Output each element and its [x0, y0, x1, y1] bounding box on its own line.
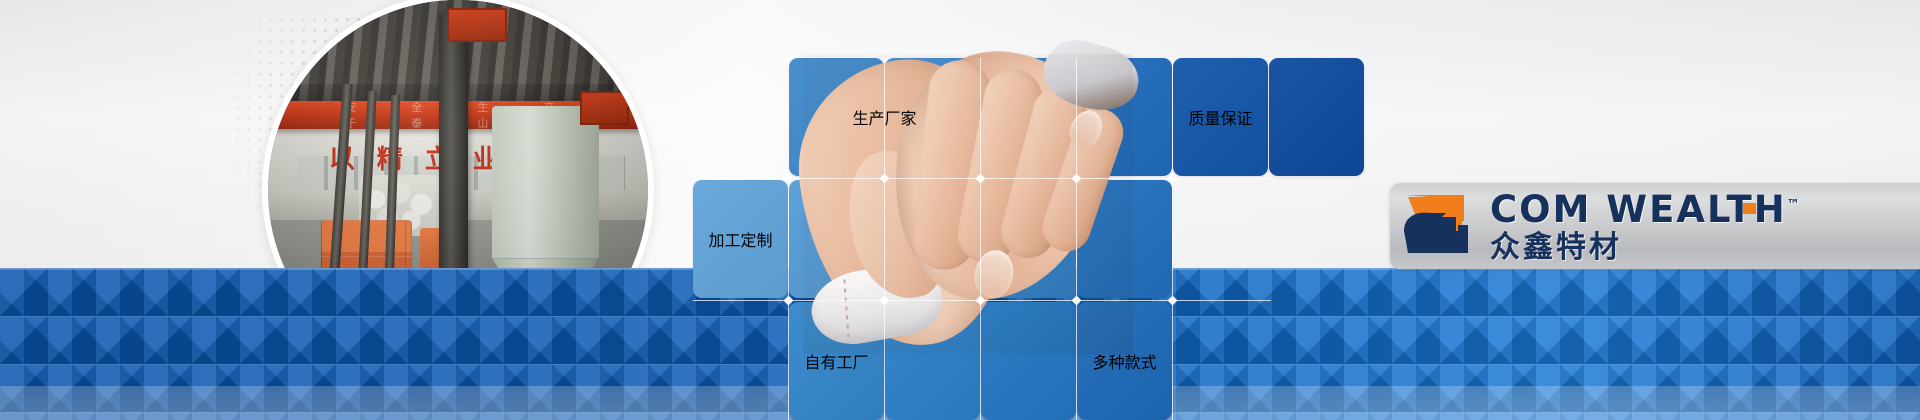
- feature-tile-label: 自有工厂: [789, 302, 884, 420]
- logo-english-name: COM WEALTH™: [1490, 191, 1800, 228]
- feature-tile-mosaic: 生产厂家质量保证加工定制自有工厂多种款式: [693, 58, 1271, 310]
- feature-tile-label: 质量保证: [1173, 58, 1268, 176]
- feature-tile: [885, 302, 980, 420]
- feature-tile: [981, 302, 1076, 420]
- feature-tile-label: 生产厂家: [837, 58, 932, 176]
- logo-wordmark: COM WEALTH™ 众鑫特材: [1490, 189, 1800, 263]
- promo-banner: 安 全 生 产 重 于 泰 山 以精立业: [0, 0, 1920, 420]
- com-wealth-z-mark-icon: [1400, 191, 1478, 261]
- trademark-symbol: ™: [1787, 198, 1800, 213]
- logo-h-accent-bar: [1743, 203, 1756, 214]
- feature-tile-label: 加工定制: [693, 180, 788, 298]
- feature-tile: [885, 180, 980, 298]
- feature-tile: [1077, 58, 1172, 176]
- feature-tile: [981, 180, 1076, 298]
- grid-line-horizontal: [693, 178, 1271, 179]
- logo-chinese-name: 众鑫特材: [1490, 233, 1800, 263]
- feature-tile: [1077, 180, 1172, 298]
- feature-tile-label: 多种款式: [1077, 302, 1172, 420]
- grid-line-horizontal: [693, 300, 1271, 301]
- company-logo-plate: COM WEALTH™ 众鑫特材: [1390, 183, 1920, 269]
- feature-tile: [789, 180, 884, 298]
- feature-tile: [1269, 58, 1364, 176]
- feature-tile: [981, 58, 1076, 176]
